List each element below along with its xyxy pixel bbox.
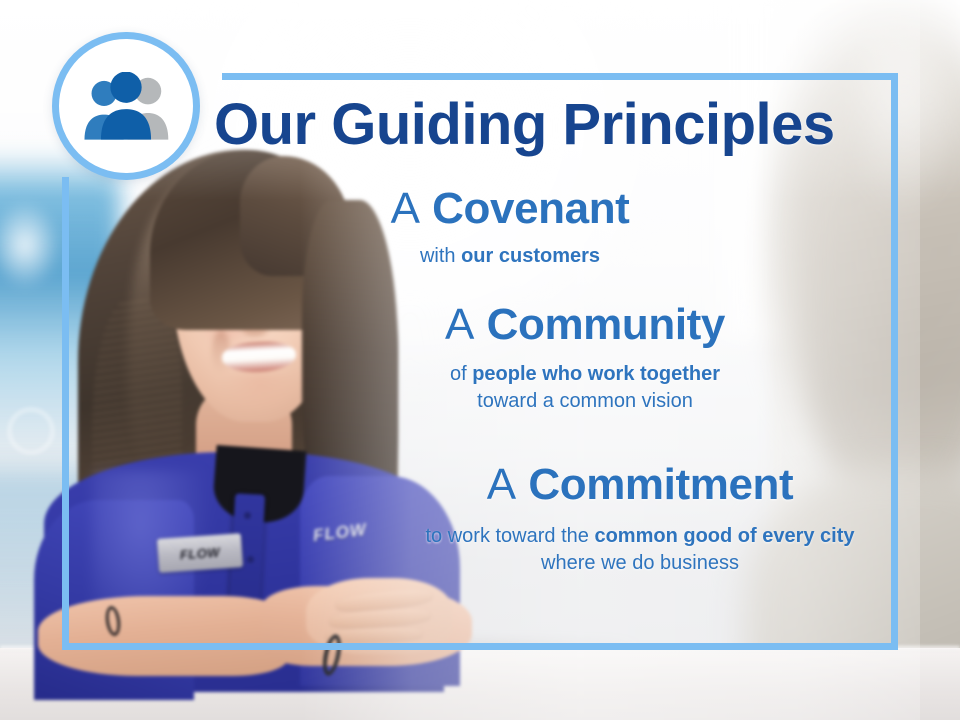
principle-sub-emphasis: common good of every city — [594, 525, 854, 547]
principle-sub-lead: of — [450, 363, 472, 385]
principle-keyword: Covenant — [432, 184, 629, 233]
principle-article: A — [445, 300, 474, 349]
principle-subtext: to work toward the common good of every … — [400, 523, 880, 578]
principle-subtext: of people who work together toward a com… — [350, 361, 820, 416]
page-title: Our Guiding Principles — [214, 96, 874, 154]
principle-covenant: A Covenant with our customers — [300, 186, 720, 270]
text-content: Our Guiding Principles A Covenant with o… — [0, 0, 960, 720]
principle-headline: A Commitment — [400, 462, 880, 509]
principle-commitment: A Commitment to work toward the common g… — [400, 462, 880, 578]
principle-keyword: Community — [487, 300, 725, 349]
principle-keyword: Commitment — [528, 460, 793, 509]
principle-sub-lead: with — [420, 245, 461, 267]
guiding-principles-graphic: FLOW FLOW — [0, 0, 960, 720]
principle-sub-line2: toward a common vision — [477, 390, 693, 412]
principle-sub-lead: to work toward the — [425, 525, 594, 547]
principle-headline: A Community — [350, 302, 820, 349]
principle-sub-tail: where we do business — [541, 552, 739, 574]
principle-article: A — [391, 184, 420, 233]
principle-headline: A Covenant — [300, 186, 720, 233]
principle-sub-emphasis: people who work together — [472, 363, 720, 385]
principle-subtext: with our customers — [300, 243, 720, 271]
principle-sub-emphasis: our customers — [461, 245, 600, 267]
principle-community: A Community of people who work together … — [350, 302, 820, 416]
principle-article: A — [487, 460, 516, 509]
